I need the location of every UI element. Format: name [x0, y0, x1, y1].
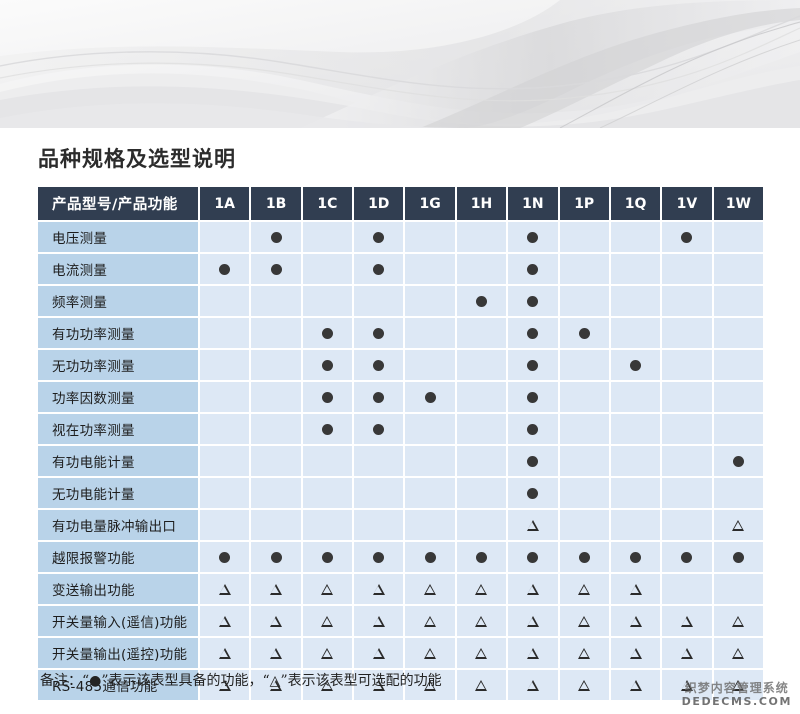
feature-cell	[303, 350, 352, 380]
feature-cell	[405, 574, 454, 604]
feature-cell	[457, 574, 506, 604]
filled-circle-icon	[322, 328, 333, 339]
feature-cell	[405, 318, 454, 348]
filled-circle-icon	[322, 360, 333, 371]
hollow-triangle-icon	[630, 616, 642, 627]
feature-cell	[611, 254, 660, 284]
filled-circle-icon	[219, 552, 230, 563]
header-cell-model: 1P	[560, 187, 609, 220]
feature-cell	[251, 222, 300, 252]
filled-circle-icon	[527, 488, 538, 499]
feature-cell	[200, 574, 249, 604]
feature-cell	[560, 478, 609, 508]
feature-cell	[251, 510, 300, 540]
feature-cell	[560, 510, 609, 540]
filled-circle-icon	[271, 232, 282, 243]
feature-cell	[611, 382, 660, 412]
feature-cell	[303, 318, 352, 348]
feature-cell	[662, 222, 711, 252]
feature-cell	[662, 254, 711, 284]
feature-cell	[611, 350, 660, 380]
header-cell-model: 1H	[457, 187, 506, 220]
feature-cell	[251, 478, 300, 508]
feature-cell	[662, 382, 711, 412]
feature-cell	[200, 478, 249, 508]
feature-cell	[405, 350, 454, 380]
hollow-triangle-icon	[475, 584, 487, 595]
feature-cell	[560, 446, 609, 476]
table-row: 开关量输入(遥信)功能	[38, 606, 763, 636]
feature-cell	[714, 286, 763, 316]
feature-cell	[354, 222, 403, 252]
feature-cell	[251, 574, 300, 604]
feature-cell	[251, 254, 300, 284]
feature-cell	[508, 606, 557, 636]
filled-circle-icon	[373, 552, 384, 563]
hollow-triangle-icon	[321, 616, 333, 627]
hollow-triangle-icon	[732, 520, 744, 531]
feature-cell	[560, 670, 609, 700]
hollow-triangle-icon	[578, 648, 590, 659]
feature-cell	[611, 286, 660, 316]
feature-cell	[560, 350, 609, 380]
filled-circle-icon	[373, 232, 384, 243]
feature-cell	[303, 222, 352, 252]
hollow-triangle-icon	[475, 648, 487, 659]
filled-circle-icon	[681, 232, 692, 243]
feature-cell	[354, 606, 403, 636]
feature-cell	[405, 286, 454, 316]
header-cell-model: 1A	[200, 187, 249, 220]
header-cell-model: 1G	[405, 187, 454, 220]
feature-cell	[611, 478, 660, 508]
feature-cell	[303, 510, 352, 540]
feature-cell	[251, 446, 300, 476]
hollow-triangle-icon	[527, 648, 539, 659]
feature-cell	[508, 350, 557, 380]
row-label: 视在功率测量	[38, 414, 198, 444]
header-cell-model: 1Q	[611, 187, 660, 220]
feature-cell	[303, 606, 352, 636]
feature-cell	[714, 542, 763, 572]
row-label: 功率因数测量	[38, 382, 198, 412]
filled-circle-icon	[630, 552, 641, 563]
feature-cell	[405, 542, 454, 572]
feature-cell	[457, 222, 506, 252]
table-row: 电压测量	[38, 222, 763, 252]
hollow-triangle-icon	[373, 584, 385, 595]
feature-cell	[714, 318, 763, 348]
table-row: 频率测量	[38, 286, 763, 316]
filled-circle-icon	[527, 232, 538, 243]
table-row: 功率因数测量	[38, 382, 763, 412]
hollow-triangle-icon	[578, 616, 590, 627]
filled-circle-icon	[527, 392, 538, 403]
feature-cell	[662, 510, 711, 540]
filled-circle-icon	[476, 552, 487, 563]
header-row: 产品型号/产品功能 1A 1B 1C 1D 1G 1H 1N 1P 1Q 1V …	[38, 187, 763, 220]
feature-cell	[457, 606, 506, 636]
feature-cell	[200, 542, 249, 572]
feature-cell	[251, 638, 300, 668]
feature-cell	[457, 382, 506, 412]
feature-cell	[303, 638, 352, 668]
feature-cell	[611, 222, 660, 252]
page-title: 品种规格及选型说明	[38, 143, 236, 173]
feature-cell	[200, 606, 249, 636]
feature-cell	[611, 318, 660, 348]
filled-circle-icon	[476, 296, 487, 307]
feature-cell	[560, 414, 609, 444]
filled-circle-icon	[527, 456, 538, 467]
hollow-triangle-icon	[527, 584, 539, 595]
feature-cell	[560, 382, 609, 412]
filled-circle-icon	[373, 360, 384, 371]
feature-cell	[200, 414, 249, 444]
feature-cell	[303, 382, 352, 412]
header-banner	[0, 0, 800, 128]
feature-cell	[662, 606, 711, 636]
feature-cell	[303, 542, 352, 572]
watermark: 织梦内容管理系统 DEDECMS.COM	[682, 681, 792, 708]
feature-cell	[457, 542, 506, 572]
hollow-triangle-icon	[475, 616, 487, 627]
feature-cell	[714, 254, 763, 284]
feature-cell	[560, 286, 609, 316]
row-label: 无功电能计量	[38, 478, 198, 508]
hollow-triangle-icon	[373, 648, 385, 659]
hollow-triangle-icon	[475, 680, 487, 691]
feature-cell	[662, 638, 711, 668]
table-row: 无功功率测量	[38, 350, 763, 380]
abstract-wave-graphic	[0, 0, 800, 128]
hollow-triangle-icon	[732, 616, 744, 627]
row-label: 有功电能计量	[38, 446, 198, 476]
feature-cell	[457, 254, 506, 284]
feature-cell	[405, 606, 454, 636]
feature-cell	[354, 542, 403, 572]
feature-cell	[354, 318, 403, 348]
hollow-triangle-icon	[424, 616, 436, 627]
feature-cell	[662, 574, 711, 604]
filled-circle-icon	[322, 424, 333, 435]
feature-cell	[662, 414, 711, 444]
feature-cell	[714, 382, 763, 412]
feature-cell	[508, 638, 557, 668]
filled-circle-icon	[322, 392, 333, 403]
hollow-triangle-icon	[630, 648, 642, 659]
filled-circle-icon	[579, 552, 590, 563]
filled-circle-icon	[373, 328, 384, 339]
feature-cell	[200, 286, 249, 316]
specification-table: 产品型号/产品功能 1A 1B 1C 1D 1G 1H 1N 1P 1Q 1V …	[36, 185, 765, 702]
table-body: 电压测量电流测量频率测量有功功率测量无功功率测量功率因数测量视在功率测量有功电能…	[38, 222, 763, 700]
table-row: 有功功率测量	[38, 318, 763, 348]
table-row: 视在功率测量	[38, 414, 763, 444]
feature-cell	[508, 414, 557, 444]
filled-circle-icon	[373, 424, 384, 435]
feature-cell	[457, 478, 506, 508]
table-row: 开关量输出(遥控)功能	[38, 638, 763, 668]
filled-circle-icon	[733, 456, 744, 467]
feature-cell	[457, 318, 506, 348]
hollow-triangle-icon	[321, 648, 333, 659]
feature-cell	[251, 286, 300, 316]
header-cell-model: 1C	[303, 187, 352, 220]
filled-circle-icon	[527, 360, 538, 371]
row-label: 变送输出功能	[38, 574, 198, 604]
feature-cell	[714, 446, 763, 476]
table-row: 无功电能计量	[38, 478, 763, 508]
feature-cell	[560, 222, 609, 252]
filled-circle-icon	[425, 552, 436, 563]
row-label: 开关量输入(遥信)功能	[38, 606, 198, 636]
feature-cell	[354, 382, 403, 412]
feature-cell	[354, 446, 403, 476]
table-row: 有功电量脉冲输出口	[38, 510, 763, 540]
feature-cell	[251, 606, 300, 636]
row-label: 电流测量	[38, 254, 198, 284]
hollow-triangle-icon	[630, 680, 642, 691]
feature-cell	[303, 446, 352, 476]
table-row: 变送输出功能	[38, 574, 763, 604]
feature-cell	[560, 254, 609, 284]
feature-cell	[611, 446, 660, 476]
feature-cell	[354, 350, 403, 380]
filled-circle-icon	[527, 264, 538, 275]
feature-cell	[662, 446, 711, 476]
hollow-triangle-icon	[424, 584, 436, 595]
feature-cell	[303, 286, 352, 316]
feature-cell	[457, 446, 506, 476]
filled-circle-icon	[527, 552, 538, 563]
feature-cell	[405, 478, 454, 508]
feature-cell	[354, 478, 403, 508]
filled-circle-icon	[733, 552, 744, 563]
hollow-triangle-icon	[219, 584, 231, 595]
filled-circle-icon	[271, 264, 282, 275]
feature-cell	[457, 414, 506, 444]
row-label: 有功功率测量	[38, 318, 198, 348]
feature-cell	[200, 350, 249, 380]
feature-cell	[457, 350, 506, 380]
hollow-triangle-icon	[424, 648, 436, 659]
feature-cell	[611, 638, 660, 668]
feature-cell	[560, 638, 609, 668]
hollow-triangle-icon	[270, 616, 282, 627]
feature-cell	[457, 670, 506, 700]
feature-cell	[405, 510, 454, 540]
feature-cell	[508, 574, 557, 604]
filled-circle-icon	[425, 392, 436, 403]
feature-cell	[405, 382, 454, 412]
feature-cell	[662, 318, 711, 348]
feature-cell	[508, 254, 557, 284]
row-label: 有功电量脉冲输出口	[38, 510, 198, 540]
filled-circle-icon	[681, 552, 692, 563]
watermark-en: DEDECMS.COM	[682, 695, 792, 708]
hollow-triangle-icon	[321, 584, 333, 595]
feature-cell	[303, 574, 352, 604]
feature-cell	[714, 574, 763, 604]
filled-circle-icon	[527, 296, 538, 307]
filled-circle-icon	[527, 328, 538, 339]
hollow-triangle-icon	[732, 648, 744, 659]
filled-circle-icon	[527, 424, 538, 435]
watermark-cn: 织梦内容管理系统	[682, 681, 792, 695]
feature-cell	[714, 222, 763, 252]
feature-cell	[714, 350, 763, 380]
feature-cell	[508, 382, 557, 412]
feature-cell	[200, 382, 249, 412]
feature-cell	[354, 254, 403, 284]
feature-cell	[354, 510, 403, 540]
filled-circle-icon	[219, 264, 230, 275]
feature-cell	[508, 542, 557, 572]
feature-cell	[560, 542, 609, 572]
feature-cell	[714, 638, 763, 668]
filled-circle-icon	[271, 552, 282, 563]
feature-cell	[457, 638, 506, 668]
row-label: 开关量输出(遥控)功能	[38, 638, 198, 668]
header-cell-model: 1W	[714, 187, 763, 220]
feature-cell	[508, 510, 557, 540]
hollow-triangle-icon	[219, 648, 231, 659]
feature-cell	[611, 542, 660, 572]
feature-cell	[200, 254, 249, 284]
feature-cell	[611, 414, 660, 444]
feature-cell	[662, 542, 711, 572]
feature-cell	[508, 318, 557, 348]
feature-cell	[405, 414, 454, 444]
feature-cell	[405, 254, 454, 284]
feature-cell	[508, 670, 557, 700]
feature-cell	[303, 478, 352, 508]
feature-cell	[714, 478, 763, 508]
header-cell-model: 1B	[251, 187, 300, 220]
feature-cell	[405, 222, 454, 252]
header-cell-model: 1V	[662, 187, 711, 220]
feature-cell	[662, 286, 711, 316]
feature-cell	[200, 318, 249, 348]
feature-cell	[200, 638, 249, 668]
feature-cell	[611, 510, 660, 540]
feature-cell	[354, 638, 403, 668]
feature-cell	[508, 222, 557, 252]
row-label: 频率测量	[38, 286, 198, 316]
feature-cell	[354, 286, 403, 316]
page-root: 品种规格及选型说明 产品型号/产品功能 1A 1B 1C 1D 1G 1H 1N…	[0, 0, 800, 714]
header-cell-model: 1N	[508, 187, 557, 220]
hollow-triangle-icon	[527, 616, 539, 627]
feature-cell	[714, 414, 763, 444]
feature-cell	[405, 446, 454, 476]
feature-cell	[251, 414, 300, 444]
hollow-triangle-icon	[373, 616, 385, 627]
row-label: 无功功率测量	[38, 350, 198, 380]
feature-cell	[303, 414, 352, 444]
feature-cell	[714, 606, 763, 636]
feature-cell	[560, 318, 609, 348]
hollow-triangle-icon	[681, 648, 693, 659]
row-label: 电压测量	[38, 222, 198, 252]
filled-circle-icon	[373, 264, 384, 275]
table-row: 有功电能计量	[38, 446, 763, 476]
hollow-triangle-icon	[270, 648, 282, 659]
feature-cell	[457, 510, 506, 540]
feature-cell	[560, 606, 609, 636]
header-cell-model: 1D	[354, 187, 403, 220]
feature-cell	[662, 478, 711, 508]
hollow-triangle-icon	[527, 520, 539, 531]
feature-cell	[405, 638, 454, 668]
hollow-triangle-icon	[219, 616, 231, 627]
filled-circle-icon	[630, 360, 641, 371]
table-footnote: 备注：“●”表示该表型具备的功能，“△”表示该表型可选配的功能	[40, 670, 442, 690]
table-row: 越限报警功能	[38, 542, 763, 572]
table-header: 产品型号/产品功能 1A 1B 1C 1D 1G 1H 1N 1P 1Q 1V …	[38, 187, 763, 220]
table-row: 电流测量	[38, 254, 763, 284]
feature-cell	[303, 254, 352, 284]
feature-cell	[354, 414, 403, 444]
filled-circle-icon	[579, 328, 590, 339]
feature-cell	[354, 574, 403, 604]
hollow-triangle-icon	[578, 584, 590, 595]
hollow-triangle-icon	[270, 584, 282, 595]
hollow-triangle-icon	[630, 584, 642, 595]
feature-cell	[611, 606, 660, 636]
hollow-triangle-icon	[527, 680, 539, 691]
feature-cell	[508, 446, 557, 476]
feature-cell	[457, 286, 506, 316]
feature-cell	[251, 382, 300, 412]
feature-cell	[251, 318, 300, 348]
hollow-triangle-icon	[578, 680, 590, 691]
feature-cell	[662, 350, 711, 380]
filled-circle-icon	[373, 392, 384, 403]
feature-cell	[611, 670, 660, 700]
feature-cell	[560, 574, 609, 604]
feature-cell	[611, 574, 660, 604]
feature-cell	[508, 478, 557, 508]
feature-cell	[200, 222, 249, 252]
feature-cell	[200, 510, 249, 540]
row-label: 越限报警功能	[38, 542, 198, 572]
header-cell-label: 产品型号/产品功能	[38, 187, 198, 220]
filled-circle-icon	[322, 552, 333, 563]
feature-cell	[251, 542, 300, 572]
feature-cell	[508, 286, 557, 316]
feature-cell	[251, 350, 300, 380]
feature-cell	[714, 510, 763, 540]
feature-cell	[200, 446, 249, 476]
hollow-triangle-icon	[681, 616, 693, 627]
